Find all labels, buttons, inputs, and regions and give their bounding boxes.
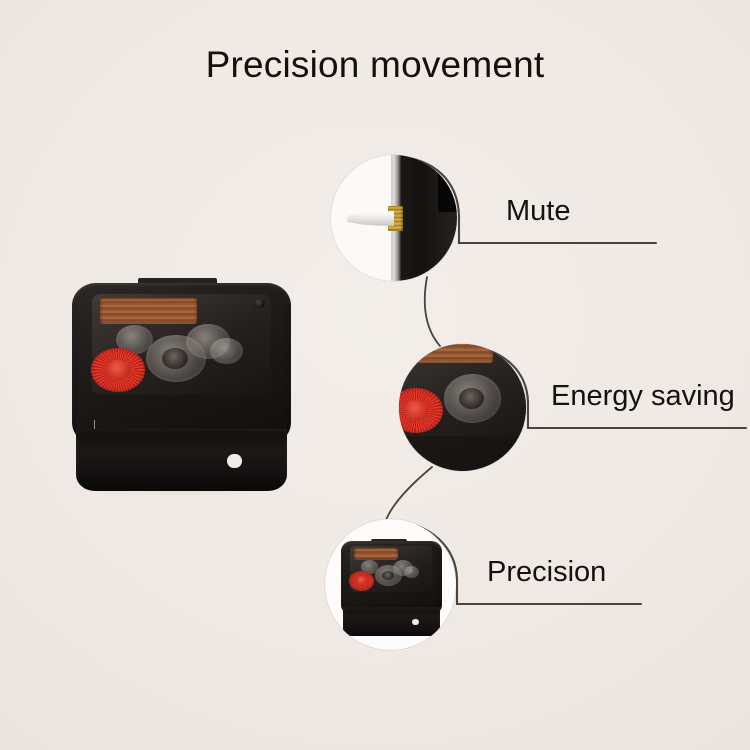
copper-coil-zoom xyxy=(399,344,493,363)
detail-circle-energy-saving xyxy=(399,344,526,471)
clock-movement-zoom xyxy=(399,344,526,471)
red-adjust-wheel xyxy=(91,348,146,392)
detail-circle-mute xyxy=(331,155,457,281)
red-gear-closeup xyxy=(399,344,526,471)
red-adjust-wheel-mini xyxy=(349,571,374,591)
callout-label-precision: Precision xyxy=(487,558,606,587)
gear-right xyxy=(210,338,243,364)
movement-case-zoom xyxy=(399,344,526,471)
base-marker-dot-mini xyxy=(412,619,419,626)
product-image-main xyxy=(72,283,291,491)
body-notch xyxy=(438,164,457,212)
case-screw xyxy=(254,299,265,308)
callout-label-energy-saving: Energy saving xyxy=(551,382,735,411)
page-title: Precision movement xyxy=(0,44,750,86)
center-shaft-hub xyxy=(162,348,188,369)
infographic-canvas: Precision movement xyxy=(0,0,750,750)
full-movement-closeup xyxy=(325,519,456,650)
copper-coil-mini xyxy=(354,548,398,560)
battery-compartment-zoom xyxy=(399,470,526,471)
detail-circle-precision xyxy=(325,519,456,650)
callout-label-mute: Mute xyxy=(506,197,570,226)
movement-case-mini xyxy=(341,541,442,615)
base-marker-dot xyxy=(227,454,241,469)
copper-coil xyxy=(100,298,196,324)
clock-movement-illustration xyxy=(72,283,291,491)
clock-movement-mini xyxy=(341,541,442,635)
battery-compartment-mini xyxy=(343,607,440,635)
shaft-side-view xyxy=(331,155,457,281)
battery-compartment xyxy=(76,429,286,491)
